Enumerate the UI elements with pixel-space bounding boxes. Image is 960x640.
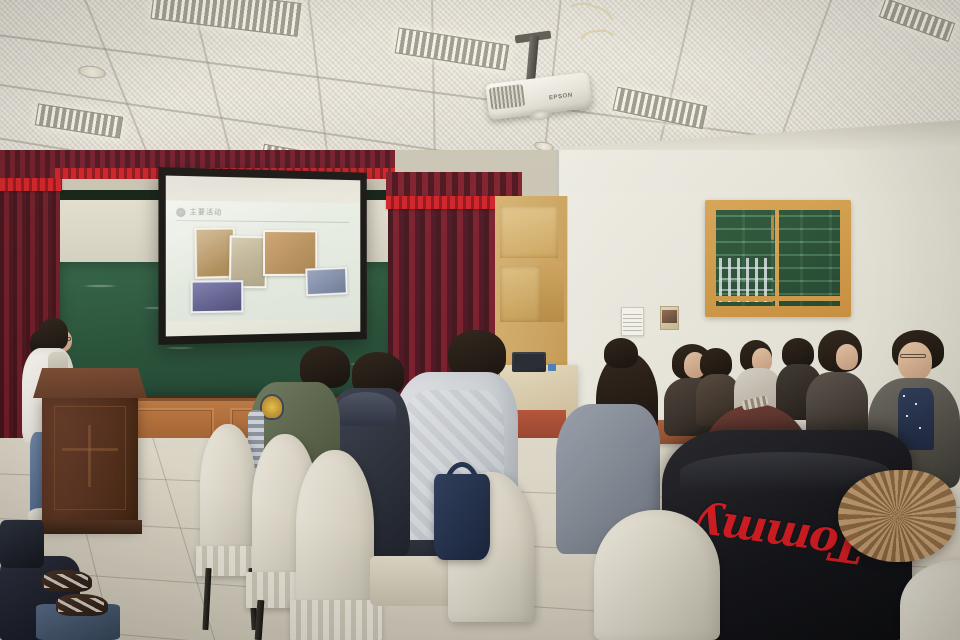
cabinet-side-edge <box>540 262 564 322</box>
lecture-hall-photo: EPSON 主要活动 <box>0 0 960 640</box>
screen-glare <box>166 176 361 337</box>
audience-polka-dot-shirt <box>898 388 934 450</box>
audience-bag-dark <box>0 520 44 568</box>
shoulder-bag[interactable] <box>434 474 490 560</box>
jacket-patch-badge <box>262 396 282 418</box>
podium-top <box>33 368 147 398</box>
chair-back-cover[interactable] <box>594 510 720 640</box>
audience-face <box>898 342 932 380</box>
chair-back-cover[interactable] <box>200 424 256 554</box>
laptop-screen <box>514 354 544 367</box>
jacket-hood <box>336 392 396 426</box>
sneaker-stripes <box>58 598 104 612</box>
curtain-valance-trim <box>0 178 62 191</box>
wall-plaque-image <box>662 310 677 323</box>
window-handle[interactable] <box>771 216 774 240</box>
projector-vent-grille <box>489 84 525 110</box>
podium-cross-detail <box>62 448 118 451</box>
glasses-icon <box>900 354 926 358</box>
audience-face <box>836 344 858 370</box>
window-bottom-rail <box>716 296 840 301</box>
cabinet-shelf-upper <box>500 206 558 258</box>
podium-cross-detail <box>88 425 91 487</box>
audience-hair <box>604 338 638 368</box>
presenter-hair <box>38 318 68 350</box>
fur-hood-trim <box>838 470 956 562</box>
projection-screen-frame: 主要活动 <box>158 167 366 345</box>
window-mullion[interactable] <box>775 210 779 306</box>
audience-hair <box>448 330 506 378</box>
chair-skirt <box>290 600 382 640</box>
sneaker-stripes <box>44 574 88 588</box>
podium-base <box>38 520 142 534</box>
wall-notice-text <box>623 311 642 331</box>
chair-back-cover[interactable] <box>296 450 374 610</box>
projection-screen: 主要活动 <box>166 176 361 337</box>
cabinet-shelf-lower <box>500 266 540 322</box>
blue-object-on-table <box>548 364 556 371</box>
